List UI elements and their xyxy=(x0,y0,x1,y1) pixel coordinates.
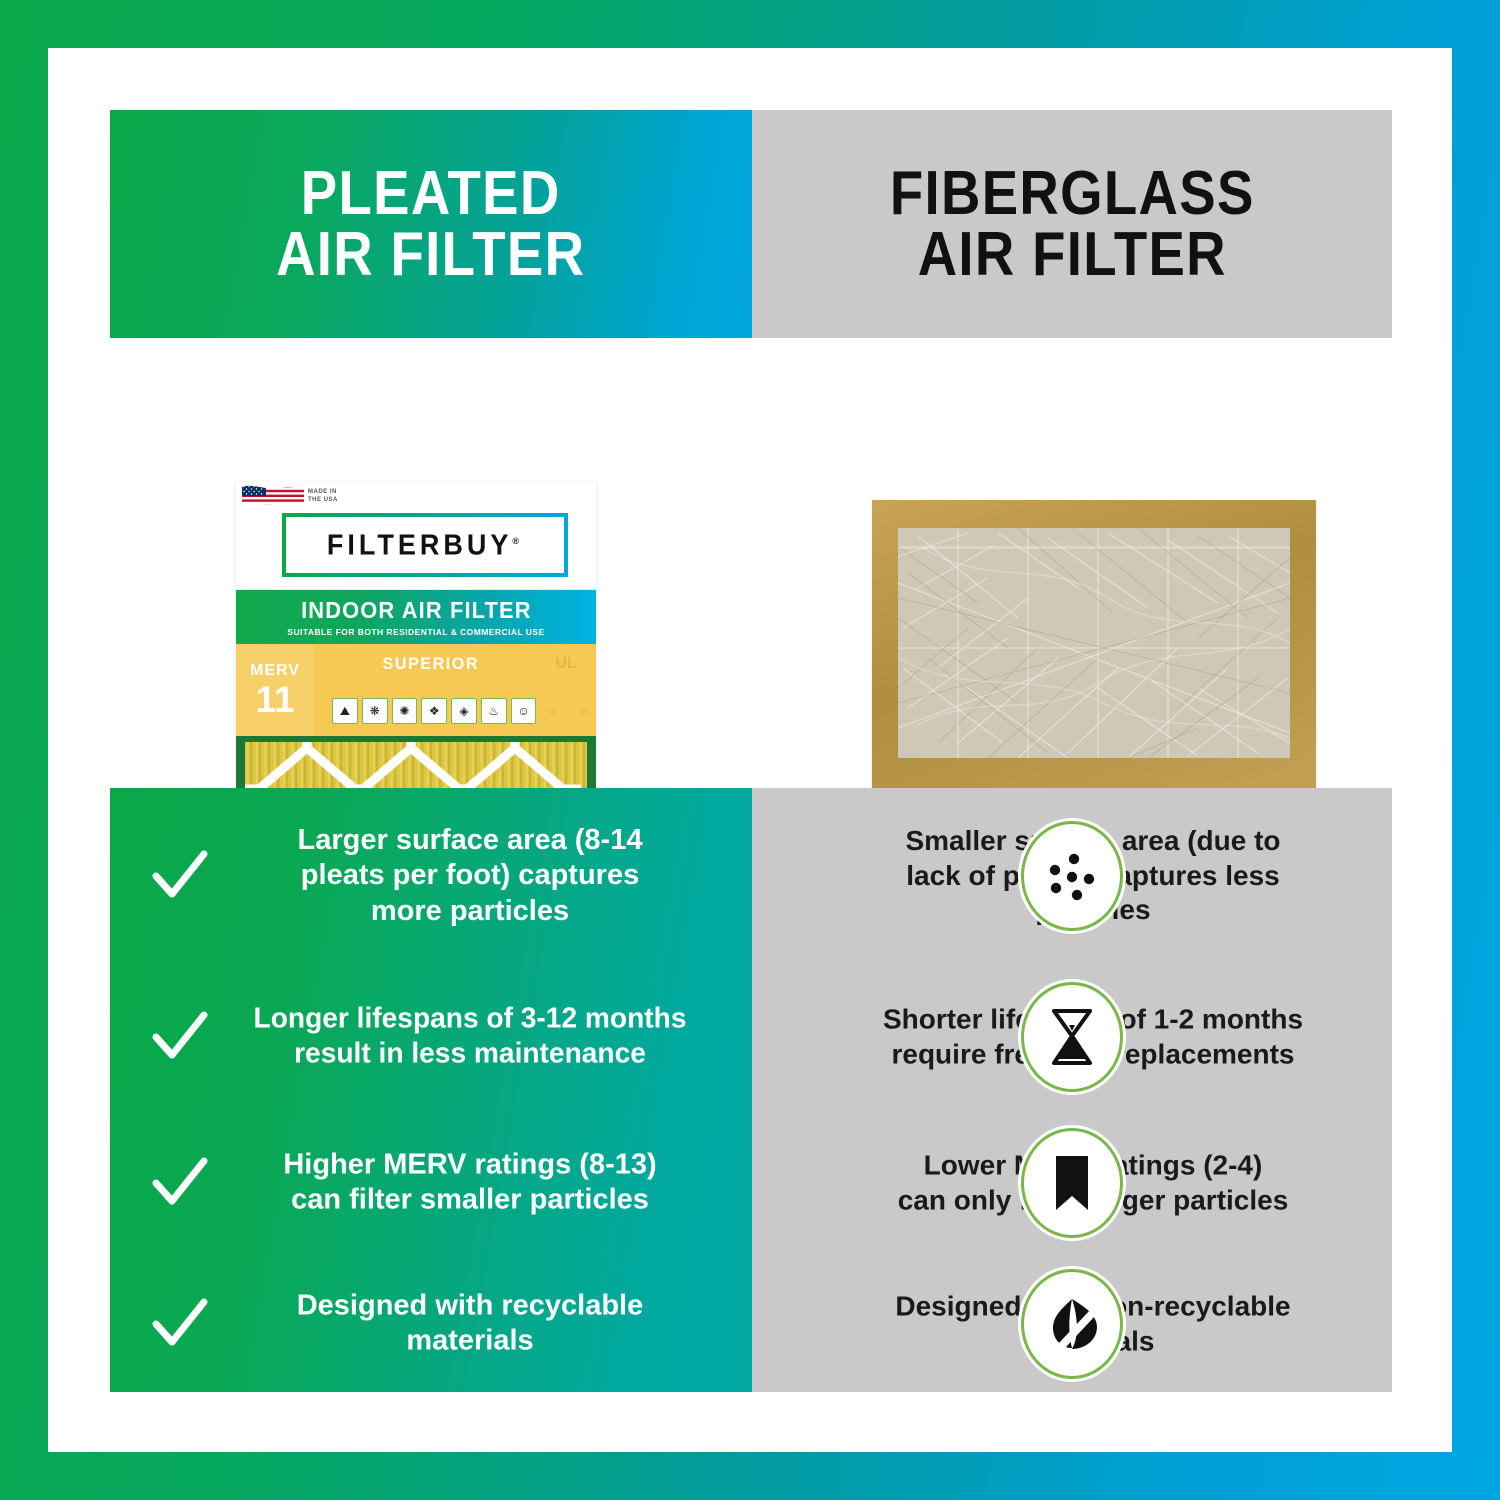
gradient-border-frame: PLEATED AIR FILTER FIBERGLASS AIR FILTER xyxy=(0,0,1500,1500)
fiberglass-media xyxy=(898,528,1290,758)
fiber-icon: ❀ xyxy=(570,698,596,724)
tier-label: SUPERIOR xyxy=(383,654,480,674)
pollen-icon: ❋ xyxy=(362,698,388,724)
filtration-icon-row: ⛰ ❋ ✺ ❖ ◈ ♨ ☺ ● ❀ xyxy=(314,685,596,736)
feature-left-text: Longer lifespans of 3-12 months result i… xyxy=(229,1002,710,1073)
header-fiberglass-title: FIBERGLASS AIR FILTER xyxy=(890,163,1255,286)
made-in-usa-text: MADE IN THE USA xyxy=(308,488,338,504)
feature-row-merv-rating: Higher MERV ratings (8-13) can filter sm… xyxy=(110,1110,1392,1256)
particles-icon xyxy=(1021,821,1123,931)
header-pleated: PLEATED AIR FILTER xyxy=(110,110,752,338)
feature-left-cell: Larger surface area (8-14 pleats per foo… xyxy=(110,788,752,964)
feature-right-cell: Lower MERV ratings (2-4) can only filter… xyxy=(752,1110,1392,1256)
feature-left-cell: Longer lifespans of 3-12 months result i… xyxy=(110,964,752,1110)
merv-band: MERV 11 SUPERIOR UL ⛰ ❋ ✺ ❖ ◈ xyxy=(236,644,596,736)
checkmark-icon xyxy=(150,1153,210,1213)
virus-icon: ◈ xyxy=(451,698,477,724)
checkmark-icon xyxy=(150,846,210,906)
merv-details: SUPERIOR UL ⛰ ❋ ✺ ❖ ◈ ♨ ☺ ● ❀ xyxy=(314,644,596,736)
tier-row: SUPERIOR UL xyxy=(314,644,596,685)
feature-right-cell: Designed with non-recyclable materials xyxy=(752,1256,1392,1392)
feature-left-cell: Higher MERV ratings (8-13) can filter sm… xyxy=(110,1110,752,1256)
lint-icon: ● xyxy=(540,698,566,724)
checkmark-icon xyxy=(150,1294,210,1354)
package-header: MADE IN THE USA FILTERBUY® xyxy=(236,481,596,590)
merv-label: MERV xyxy=(250,662,300,680)
header-row: PLEATED AIR FILTER FIBERGLASS AIR FILTER xyxy=(110,110,1392,338)
feature-right-cell: Smaller surface area (due to lack of ple… xyxy=(752,788,1392,964)
feature-left-text: Higher MERV ratings (8-13) can filter sm… xyxy=(222,1148,718,1219)
merv-value: 11 xyxy=(255,682,294,717)
pet-dander-icon: ♨ xyxy=(481,698,507,724)
feature-row-recyclable: Designed with recyclable materials Desig… xyxy=(110,1256,1392,1392)
feature-right-cell: Shorter lifespans of 1-2 months require … xyxy=(752,964,1392,1110)
feature-left-text: Larger surface area (8-14 pleats per foo… xyxy=(222,823,718,929)
indoor-air-filter-subtitle: SUITABLE FOR BOTH RESIDENTIAL & COMMERCI… xyxy=(287,627,544,637)
ul-certification-icon: UL xyxy=(543,650,588,678)
feature-left-text: Designed with recyclable materials xyxy=(222,1289,718,1360)
hourglass-icon xyxy=(1021,982,1123,1092)
bookmark-icon xyxy=(1021,1128,1123,1238)
comparison-panel: PLEATED AIR FILTER FIBERGLASS AIR FILTER xyxy=(110,110,1392,1392)
feature-row-surface-area: Larger surface area (8-14 pleats per foo… xyxy=(110,788,1392,964)
header-pleated-title: PLEATED AIR FILTER xyxy=(276,163,585,286)
filterbuy-logo: FILTERBUY® xyxy=(282,513,568,577)
header-fiberglass: FIBERGLASS AIR FILTER xyxy=(752,110,1392,338)
feature-row-lifespan: Longer lifespans of 3-12 months result i… xyxy=(110,964,1392,1110)
leaf-icon xyxy=(1021,1269,1123,1379)
fiber-texture xyxy=(898,528,1290,758)
filterbuy-logo-text: FILTERBUY® xyxy=(327,529,523,562)
feature-left-cell: Designed with recyclable materials xyxy=(110,1256,752,1392)
frame-seam xyxy=(898,546,1290,549)
indoor-air-filter-title: INDOOR AIR FILTER xyxy=(301,597,532,624)
merv-rating-block: MERV 11 xyxy=(236,644,314,736)
indoor-air-filter-band: INDOOR AIR FILTER SUITABLE FOR BOTH RESI… xyxy=(236,590,596,644)
product-images-band: MADE IN THE USA FILTERBUY® INDOOR AIR FI… xyxy=(110,338,1392,788)
checkmark-icon xyxy=(150,1007,210,1067)
mold-spore-icon: ✺ xyxy=(392,698,418,724)
bacteria-icon: ❖ xyxy=(421,698,447,724)
smoke-icon: ☺ xyxy=(511,698,537,724)
dust-icon: ⛰ xyxy=(332,698,358,724)
fiberglass-filter-image xyxy=(872,500,1316,788)
feature-comparison-rows: Larger surface area (8-14 pleats per foo… xyxy=(110,788,1392,1392)
